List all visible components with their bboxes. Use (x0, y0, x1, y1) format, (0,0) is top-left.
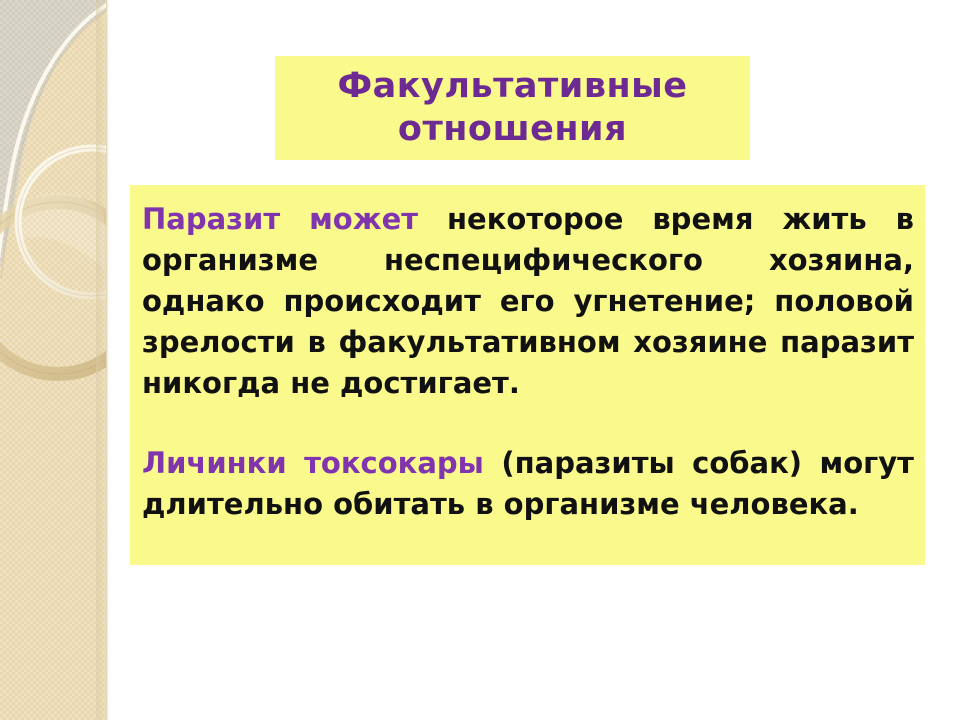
body-paragraph-1: Паразит может некоторое время жить в орг… (142, 199, 914, 404)
paragraph-2-highlight: Личинки токсокары (142, 446, 484, 480)
slide-title: Факультативные отношения (331, 65, 693, 151)
title-highlight-box: Факультативные отношения (275, 56, 750, 160)
decorative-sidebar (0, 0, 106, 720)
body-highlight-box: Паразит может некоторое время жить в орг… (130, 185, 925, 565)
sidebar-artwork (0, 0, 106, 720)
slide-canvas: Факультативные отношения Паразит может н… (0, 0, 960, 720)
sidebar-edge-divider (106, 0, 109, 720)
sidebar-fade (96, 0, 106, 720)
paragraph-1-highlight: Паразит может (142, 202, 418, 236)
body-paragraph-2: Личинки токсокары (паразиты собак) могут… (142, 443, 914, 525)
